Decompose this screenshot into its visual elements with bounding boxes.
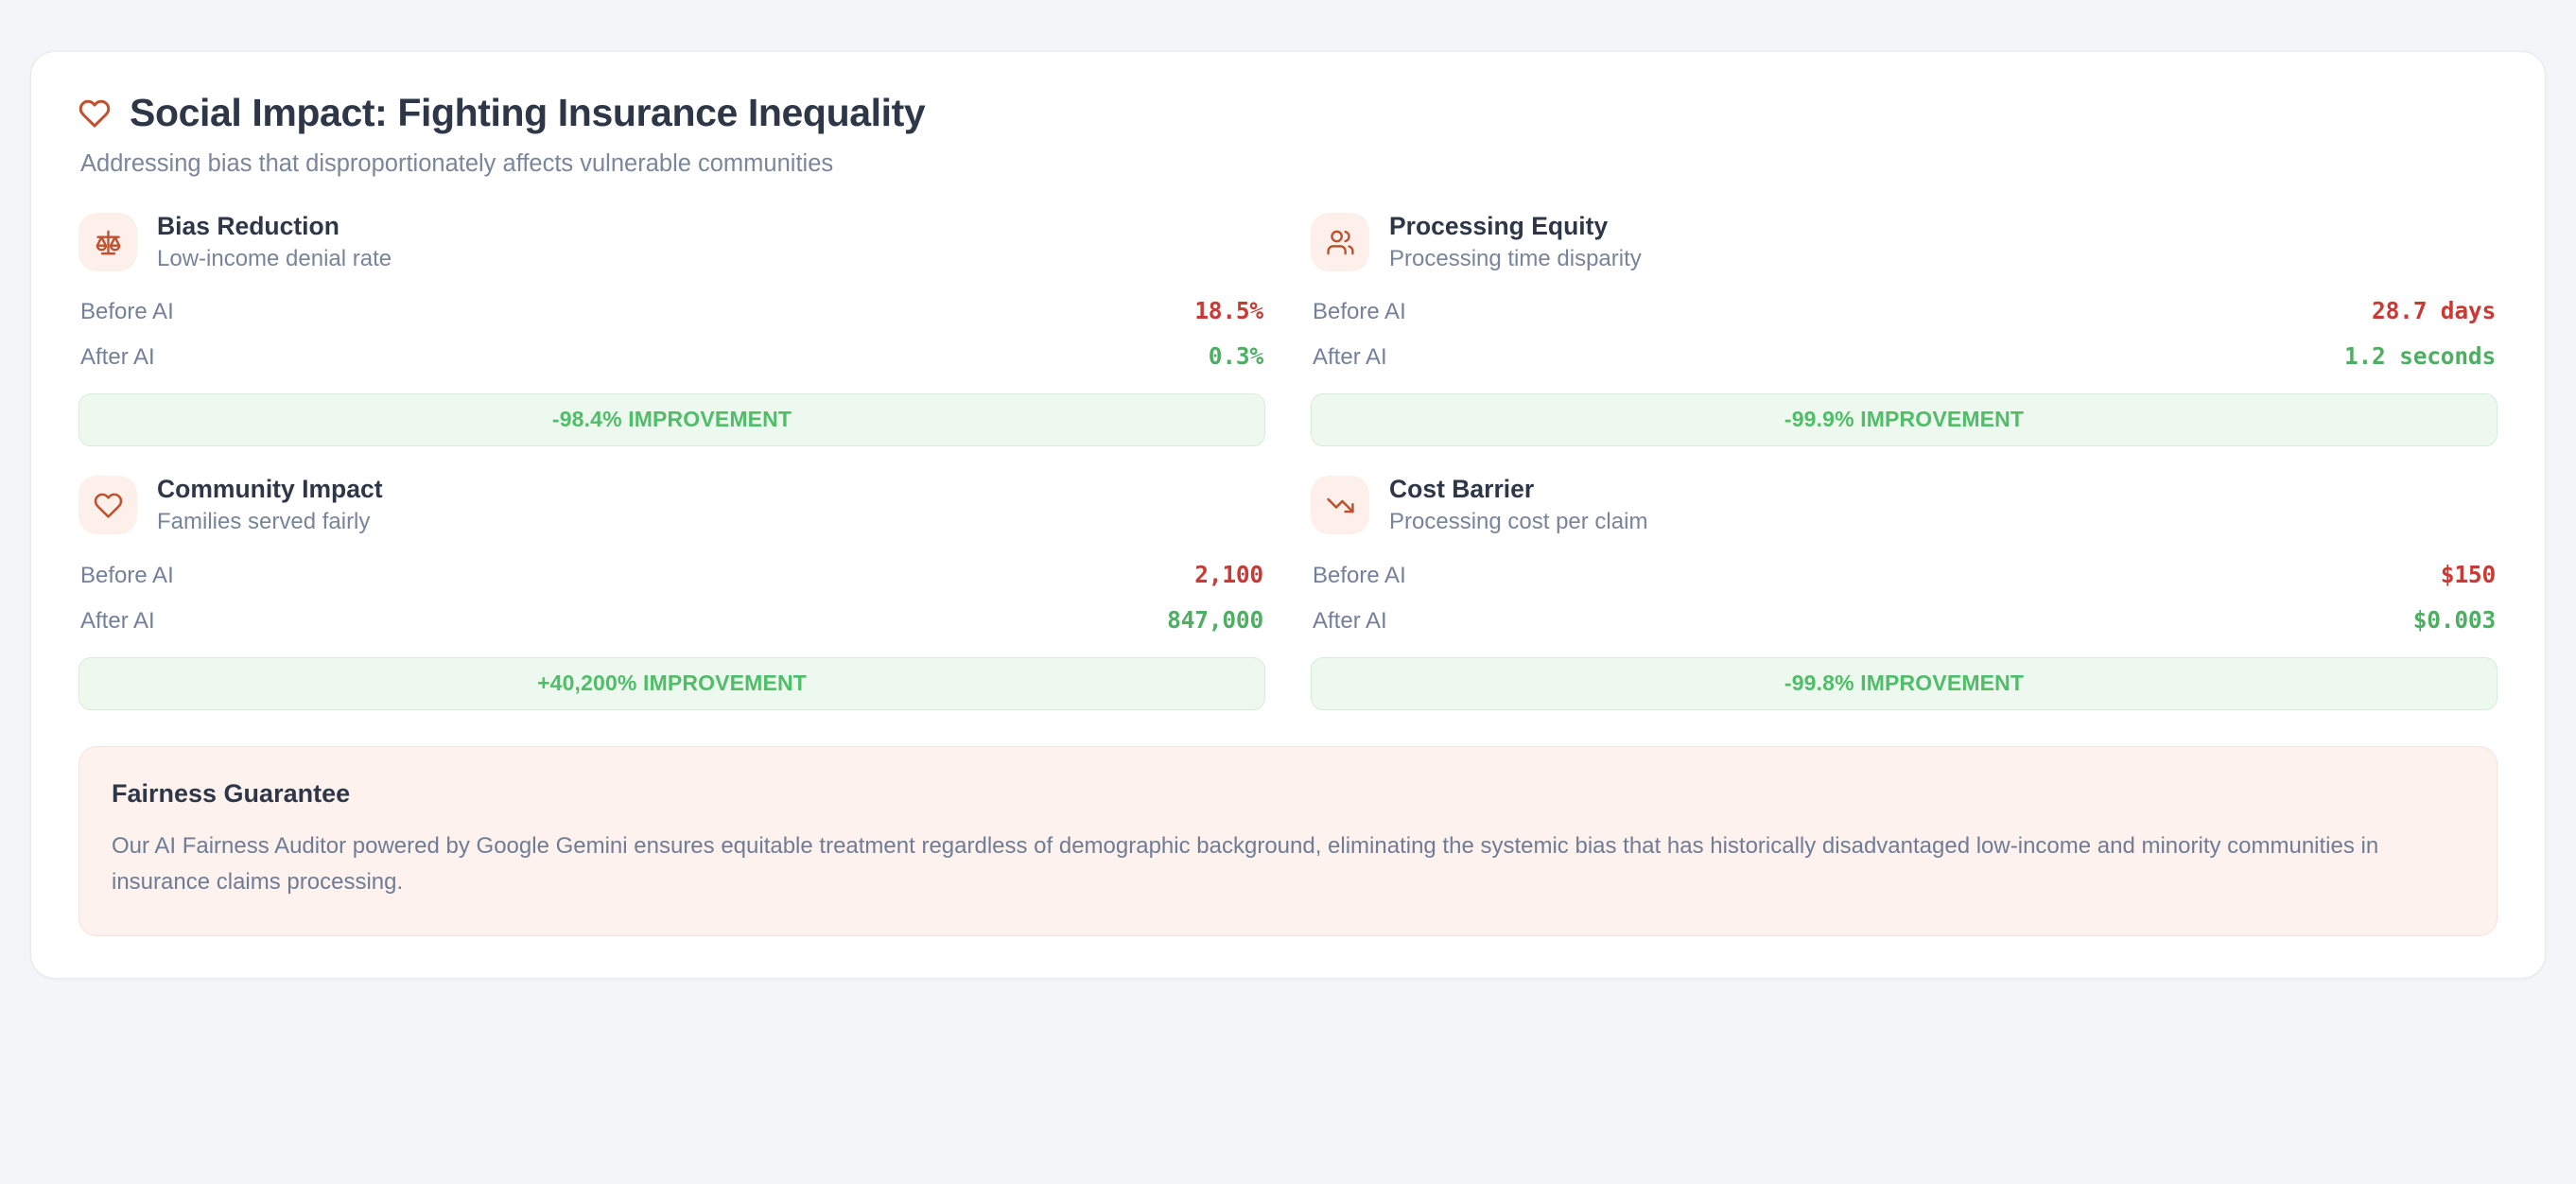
after-label: After AI <box>1313 608 1387 635</box>
before-row: Before AI 2,100 <box>78 561 1265 589</box>
panel-header: Social Impact: Fighting Insurance Inequa… <box>78 92 2498 180</box>
metric-titles: Bias Reduction Low-income denial rate <box>157 212 392 272</box>
metric-card-community-impact: Community Impact Families served fairly … <box>78 475 1265 709</box>
improvement-badge: -99.8% IMPROVEMENT <box>1311 657 2498 710</box>
metric-header: Bias Reduction Low-income denial rate <box>78 212 1265 272</box>
metric-name: Community Impact <box>157 475 383 503</box>
after-row: After AI $0.003 <box>1311 606 2498 635</box>
trending-down-icon <box>1311 476 1369 534</box>
fairness-text: Our AI Fairness Auditor powered by Googl… <box>112 828 2464 902</box>
metric-description: Processing cost per claim <box>1389 509 1647 536</box>
metric-name: Cost Barrier <box>1389 475 1647 503</box>
after-value: $0.003 <box>2413 606 2496 634</box>
before-value: 2,100 <box>1194 561 1263 588</box>
page-title: Social Impact: Fighting Insurance Inequa… <box>130 92 925 135</box>
before-row: Before AI 28.7 days <box>1311 297 2498 325</box>
metric-header: Community Impact Families served fairly <box>78 475 1265 535</box>
after-label: After AI <box>80 608 155 635</box>
improvement-badge: -98.4% IMPROVEMENT <box>78 393 1265 446</box>
fairness-guarantee-box: Fairness Guarantee Our AI Fairness Audit… <box>78 746 2498 937</box>
after-label: After AI <box>1313 344 1387 371</box>
before-label: Before AI <box>1313 563 1406 589</box>
metric-card-bias-reduction: Bias Reduction Low-income denial rate Be… <box>78 212 1265 446</box>
improvement-badge: +40,200% IMPROVEMENT <box>78 657 1265 710</box>
before-row: Before AI 18.5% <box>78 297 1265 325</box>
metric-description: Families served fairly <box>157 509 383 536</box>
metric-card-cost-barrier: Cost Barrier Processing cost per claim B… <box>1311 475 2498 709</box>
before-row: Before AI $150 <box>1311 561 2498 589</box>
users-icon <box>1311 213 1369 271</box>
page-subtitle: Addressing bias that disproportionately … <box>78 148 2498 180</box>
metric-card-processing-equity: Processing Equity Processing time dispar… <box>1311 212 2498 446</box>
fairness-title: Fairness Guarantee <box>112 779 2464 809</box>
before-value: $150 <box>2441 561 2496 588</box>
scales-icon <box>78 213 137 271</box>
metric-name: Processing Equity <box>1389 212 1642 240</box>
title-row: Social Impact: Fighting Insurance Inequa… <box>78 92 2498 135</box>
before-value: 28.7 days <box>2372 297 2496 324</box>
metric-titles: Processing Equity Processing time dispar… <box>1389 212 1642 272</box>
metric-name: Bias Reduction <box>157 212 392 240</box>
after-row: After AI 0.3% <box>78 342 1265 371</box>
metric-description: Low-income denial rate <box>157 246 392 273</box>
metric-description: Processing time disparity <box>1389 246 1642 273</box>
before-label: Before AI <box>80 563 174 589</box>
improvement-badge: -99.9% IMPROVEMENT <box>1311 393 2498 446</box>
after-value: 1.2 seconds <box>2344 342 2496 370</box>
metric-header: Cost Barrier Processing cost per claim <box>1311 475 2498 535</box>
after-row: After AI 1.2 seconds <box>1311 342 2498 371</box>
metric-titles: Community Impact Families served fairly <box>157 475 383 535</box>
before-label: Before AI <box>1313 299 1406 325</box>
heart-icon <box>78 476 137 534</box>
page-root: Social Impact: Fighting Insurance Inequa… <box>0 0 2576 1184</box>
before-value: 18.5% <box>1194 297 1263 324</box>
social-impact-panel: Social Impact: Fighting Insurance Inequa… <box>30 51 2546 979</box>
metric-grid: Bias Reduction Low-income denial rate Be… <box>78 212 2498 710</box>
metric-header: Processing Equity Processing time dispar… <box>1311 212 2498 272</box>
after-value: 847,000 <box>1167 606 1263 634</box>
metric-titles: Cost Barrier Processing cost per claim <box>1389 475 1647 535</box>
heart-icon <box>78 97 111 130</box>
after-value: 0.3% <box>1209 342 1263 370</box>
after-row: After AI 847,000 <box>78 606 1265 635</box>
before-label: Before AI <box>80 299 174 325</box>
after-label: After AI <box>80 344 155 371</box>
